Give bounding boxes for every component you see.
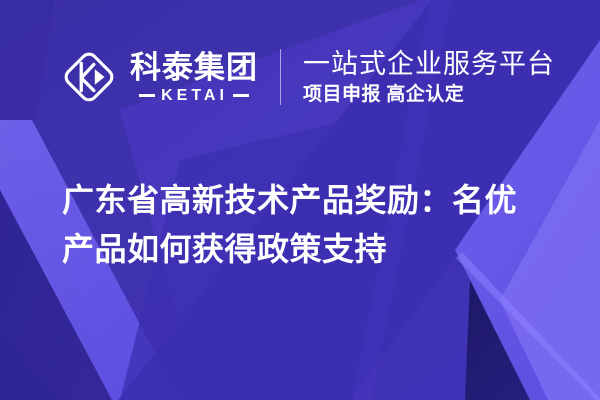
brand-wordmark: 科泰集团 KETAI: [130, 51, 258, 104]
brand-name-cn: 科泰集团: [130, 51, 258, 85]
promo-banner: 科泰集团 KETAI 一站式企业服务平台 项目申报 高企认定 广东省高新技术产品…: [0, 0, 600, 400]
banner-header: 科泰集团 KETAI 一站式企业服务平台 项目申报 高企认定: [58, 40, 555, 114]
header-divider: [280, 49, 281, 105]
tagline-primary: 一站式企业服务平台: [303, 48, 555, 80]
brand-name-en-row: KETAI: [130, 87, 258, 104]
brand-logo[interactable]: 科泰集团 KETAI: [58, 46, 258, 108]
tagline-block: 一站式企业服务平台 项目申报 高企认定: [303, 48, 555, 107]
tagline-secondary: 项目申报 高企认定: [303, 83, 555, 107]
wordmark-dash-left: [139, 94, 155, 97]
brand-name-en: KETAI: [161, 87, 228, 104]
wordmark-dash-right: [233, 94, 249, 97]
ketai-diamond-k-logo-icon: [58, 46, 120, 108]
banner-title: 广东省高新技术产品奖励：名优产品如何获得政策支持: [62, 176, 532, 274]
